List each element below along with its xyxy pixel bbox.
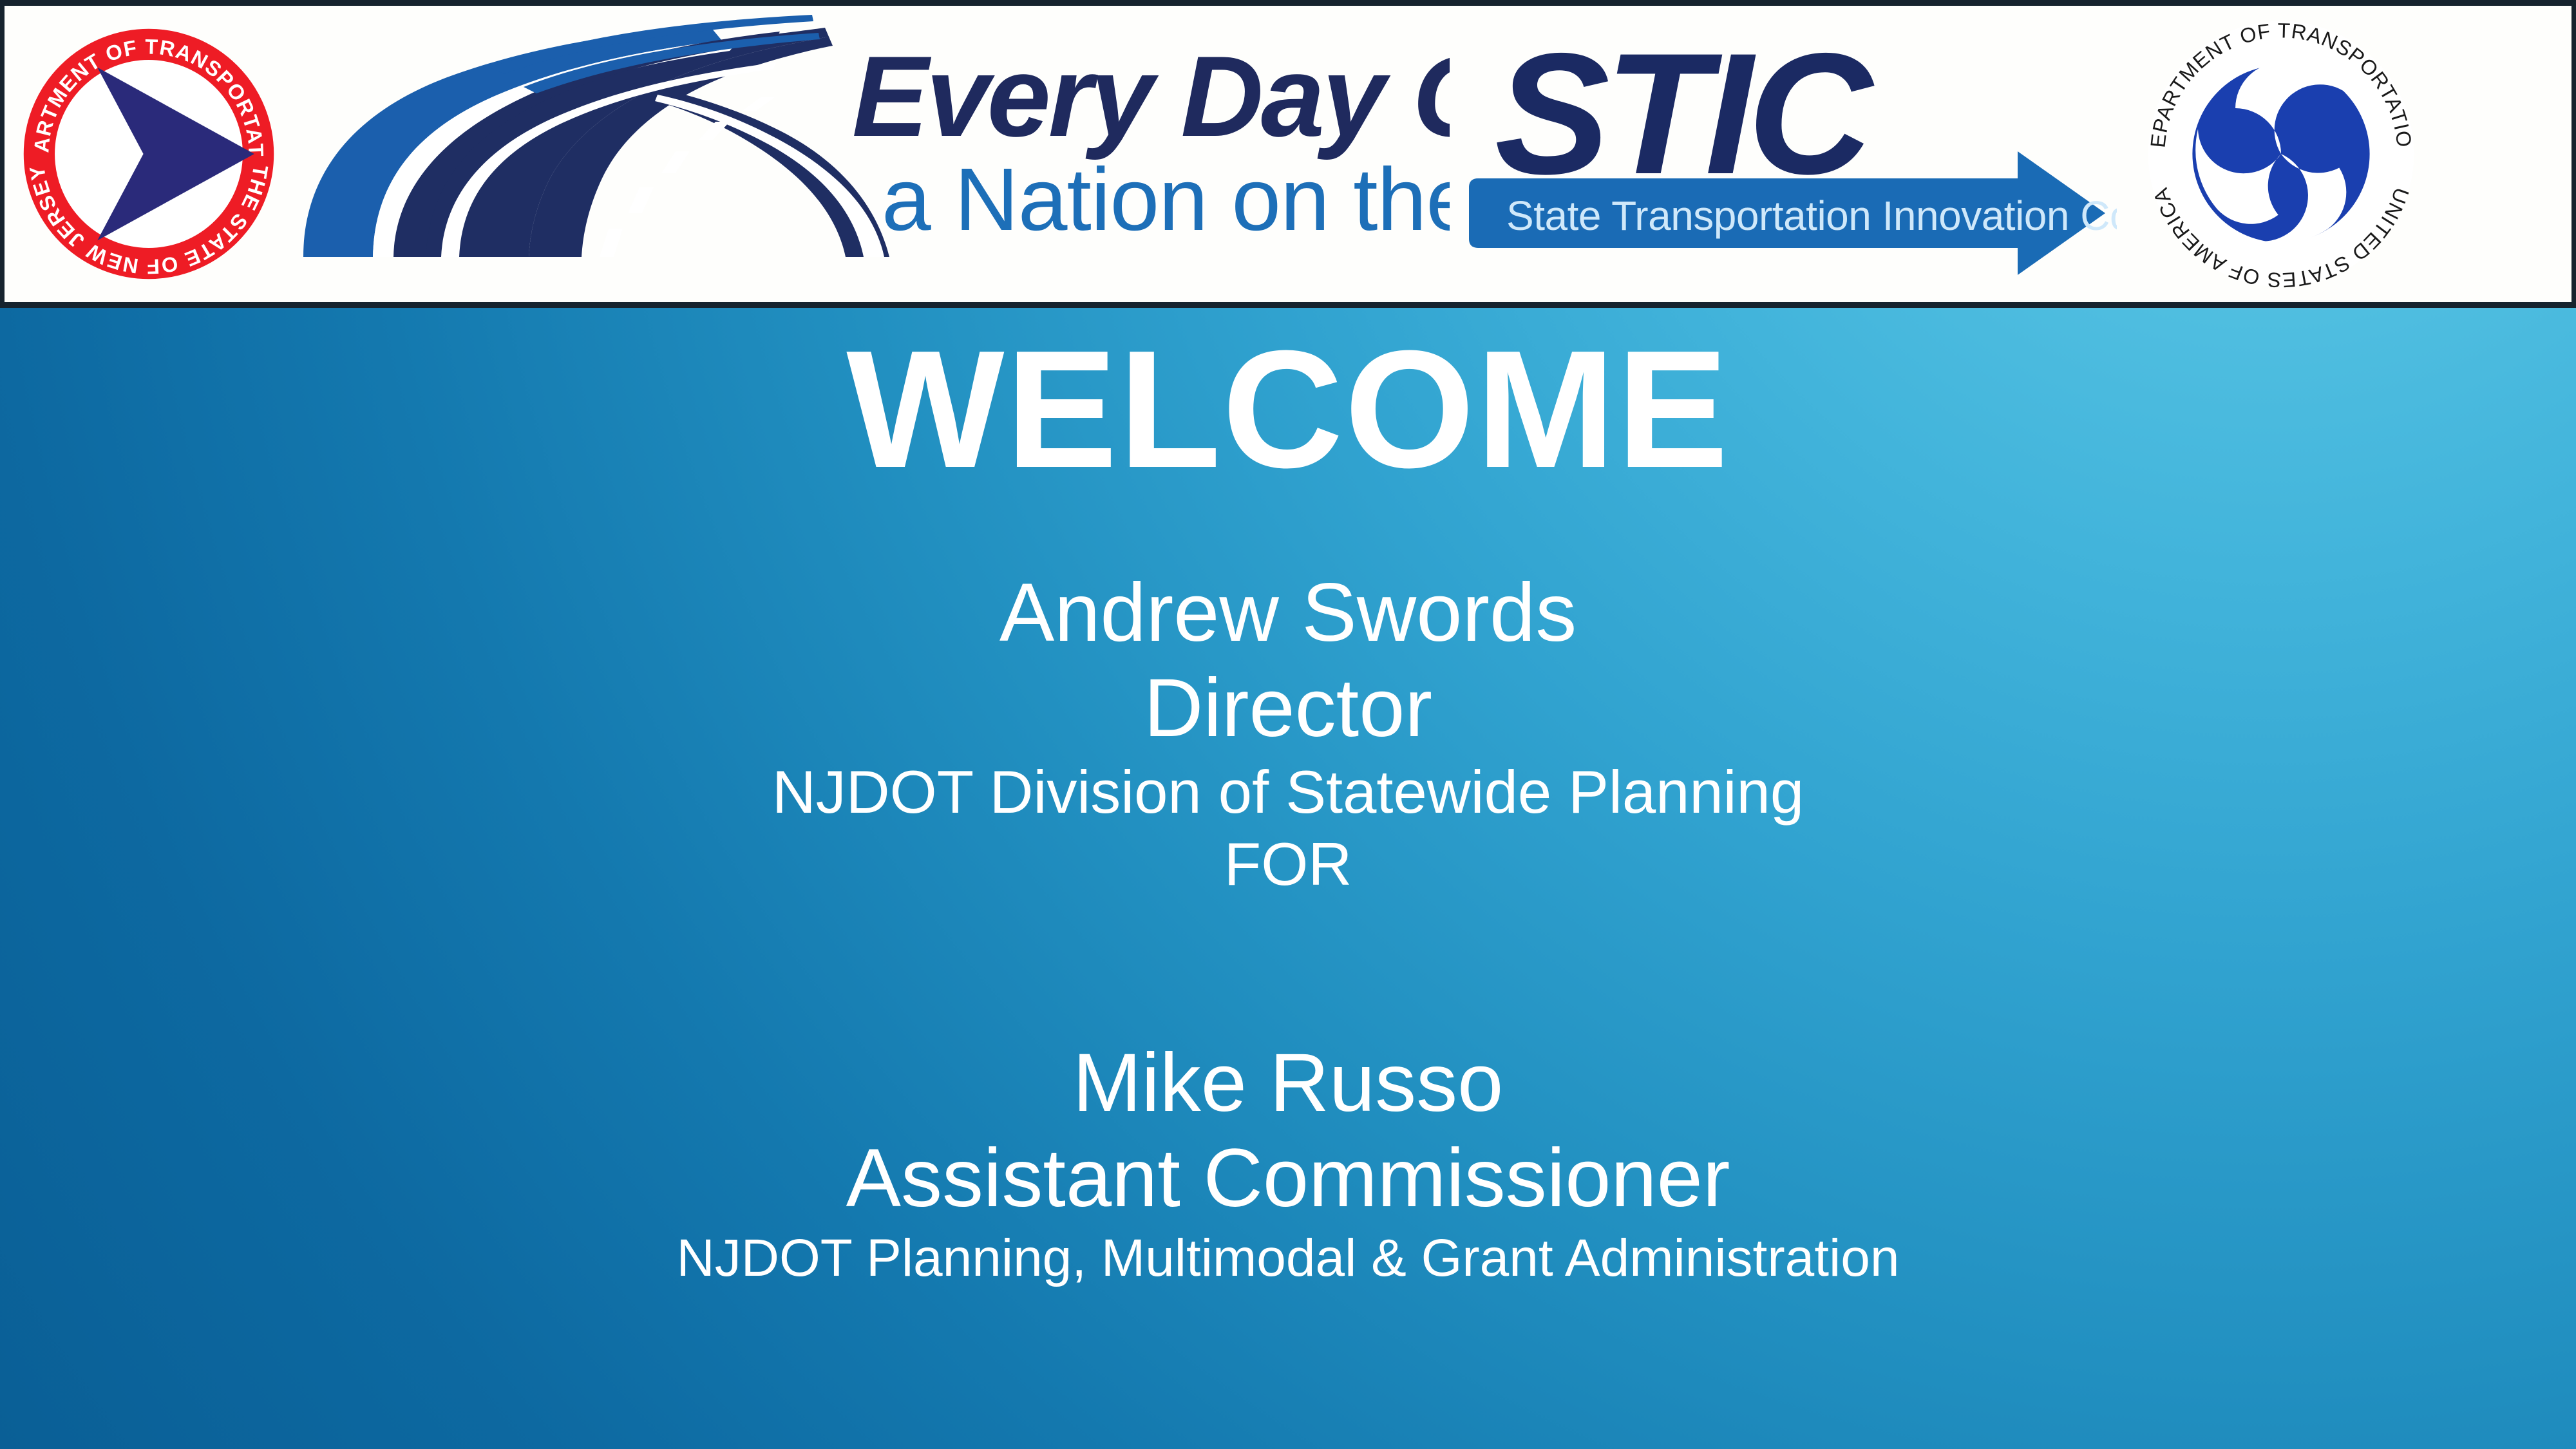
slide-body: WELCOME Andrew Swords Director NJDOT Div…: [0, 308, 2576, 1449]
njdot-seal-logo: DEPARTMENT OF TRANSPORTATION THE STATE O…: [14, 19, 284, 289]
stic-logo: STIC State Transportation Innovation Cou…: [1466, 19, 2117, 289]
page-title: WELCOME: [0, 326, 2576, 493]
presentation-slide: DEPARTMENT OF TRANSPORTATION THE STATE O…: [0, 0, 2576, 1449]
stic-tagline-text: State Transportation Innovation Councils: [1506, 193, 2117, 239]
speaker-title: Director: [0, 661, 2576, 756]
speaker-block-primary: Andrew Swords Director NJDOT Division of…: [0, 565, 2576, 900]
edc-line2-text: a Nation on the Move: [882, 150, 1450, 249]
speaker-block-secondary: Mike Russo Assistant Commissioner NJDOT …: [0, 1036, 2576, 1291]
header-logo-banner: DEPARTMENT OF TRANSPORTATION THE STATE O…: [0, 0, 2576, 308]
speaker-title: Assistant Commissioner: [0, 1131, 2576, 1226]
speaker-connector: FOR: [0, 828, 2576, 900]
stic-acronym-text: STIC: [1495, 19, 1875, 210]
edc-line1-text: Every Day Counts: [852, 32, 1450, 160]
speaker-name: Mike Russo: [0, 1036, 2576, 1131]
speaker-name: Andrew Swords: [0, 565, 2576, 661]
speaker-organization: NJDOT Planning, Multimodal & Grant Admin…: [0, 1226, 2576, 1291]
every-day-counts-logo: Every Day Counts a Nation on the Move: [297, 12, 1450, 296]
usdot-seal-logo: DEPARTMENT OF TRANSPORTATION UNITED STAT…: [2143, 15, 2420, 292]
speaker-organization: NJDOT Division of Statewide Planning: [0, 756, 2576, 828]
